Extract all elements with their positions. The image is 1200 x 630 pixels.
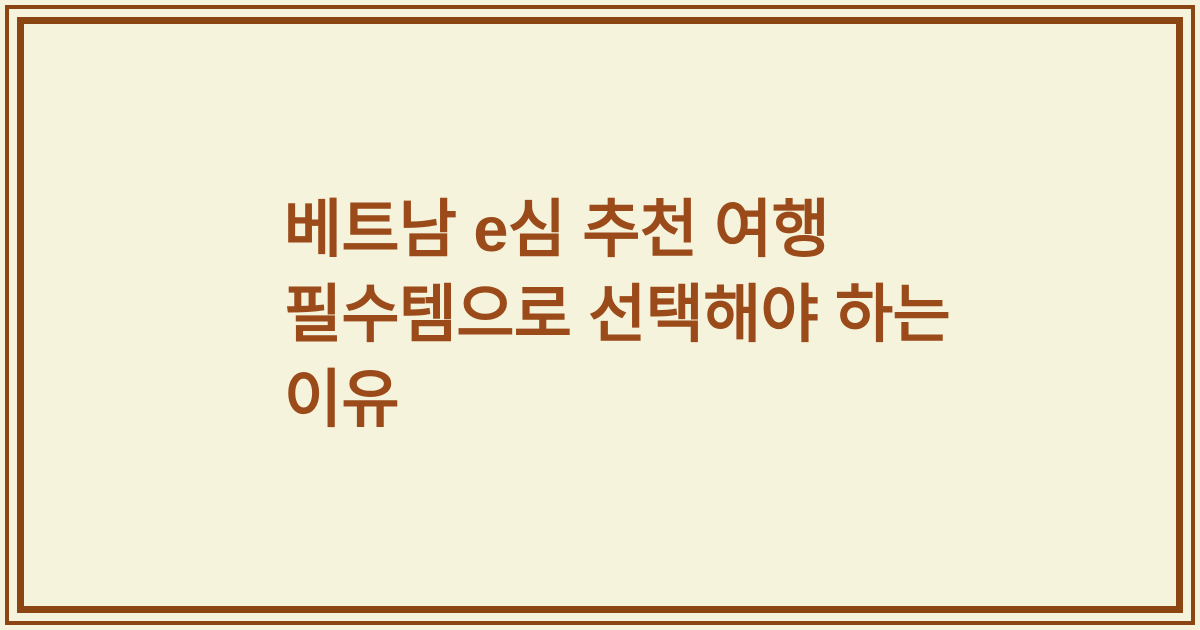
- title-container: 베트남 e심 추천 여행 필수템으로 선택해야 하는 이유: [0, 0, 1200, 630]
- thumbnail-card: 베트남 e심 추천 여행 필수템으로 선택해야 하는 이유: [0, 0, 1200, 630]
- page-title: 베트남 e심 추천 여행 필수템으로 선택해야 하는 이유: [284, 188, 960, 443]
